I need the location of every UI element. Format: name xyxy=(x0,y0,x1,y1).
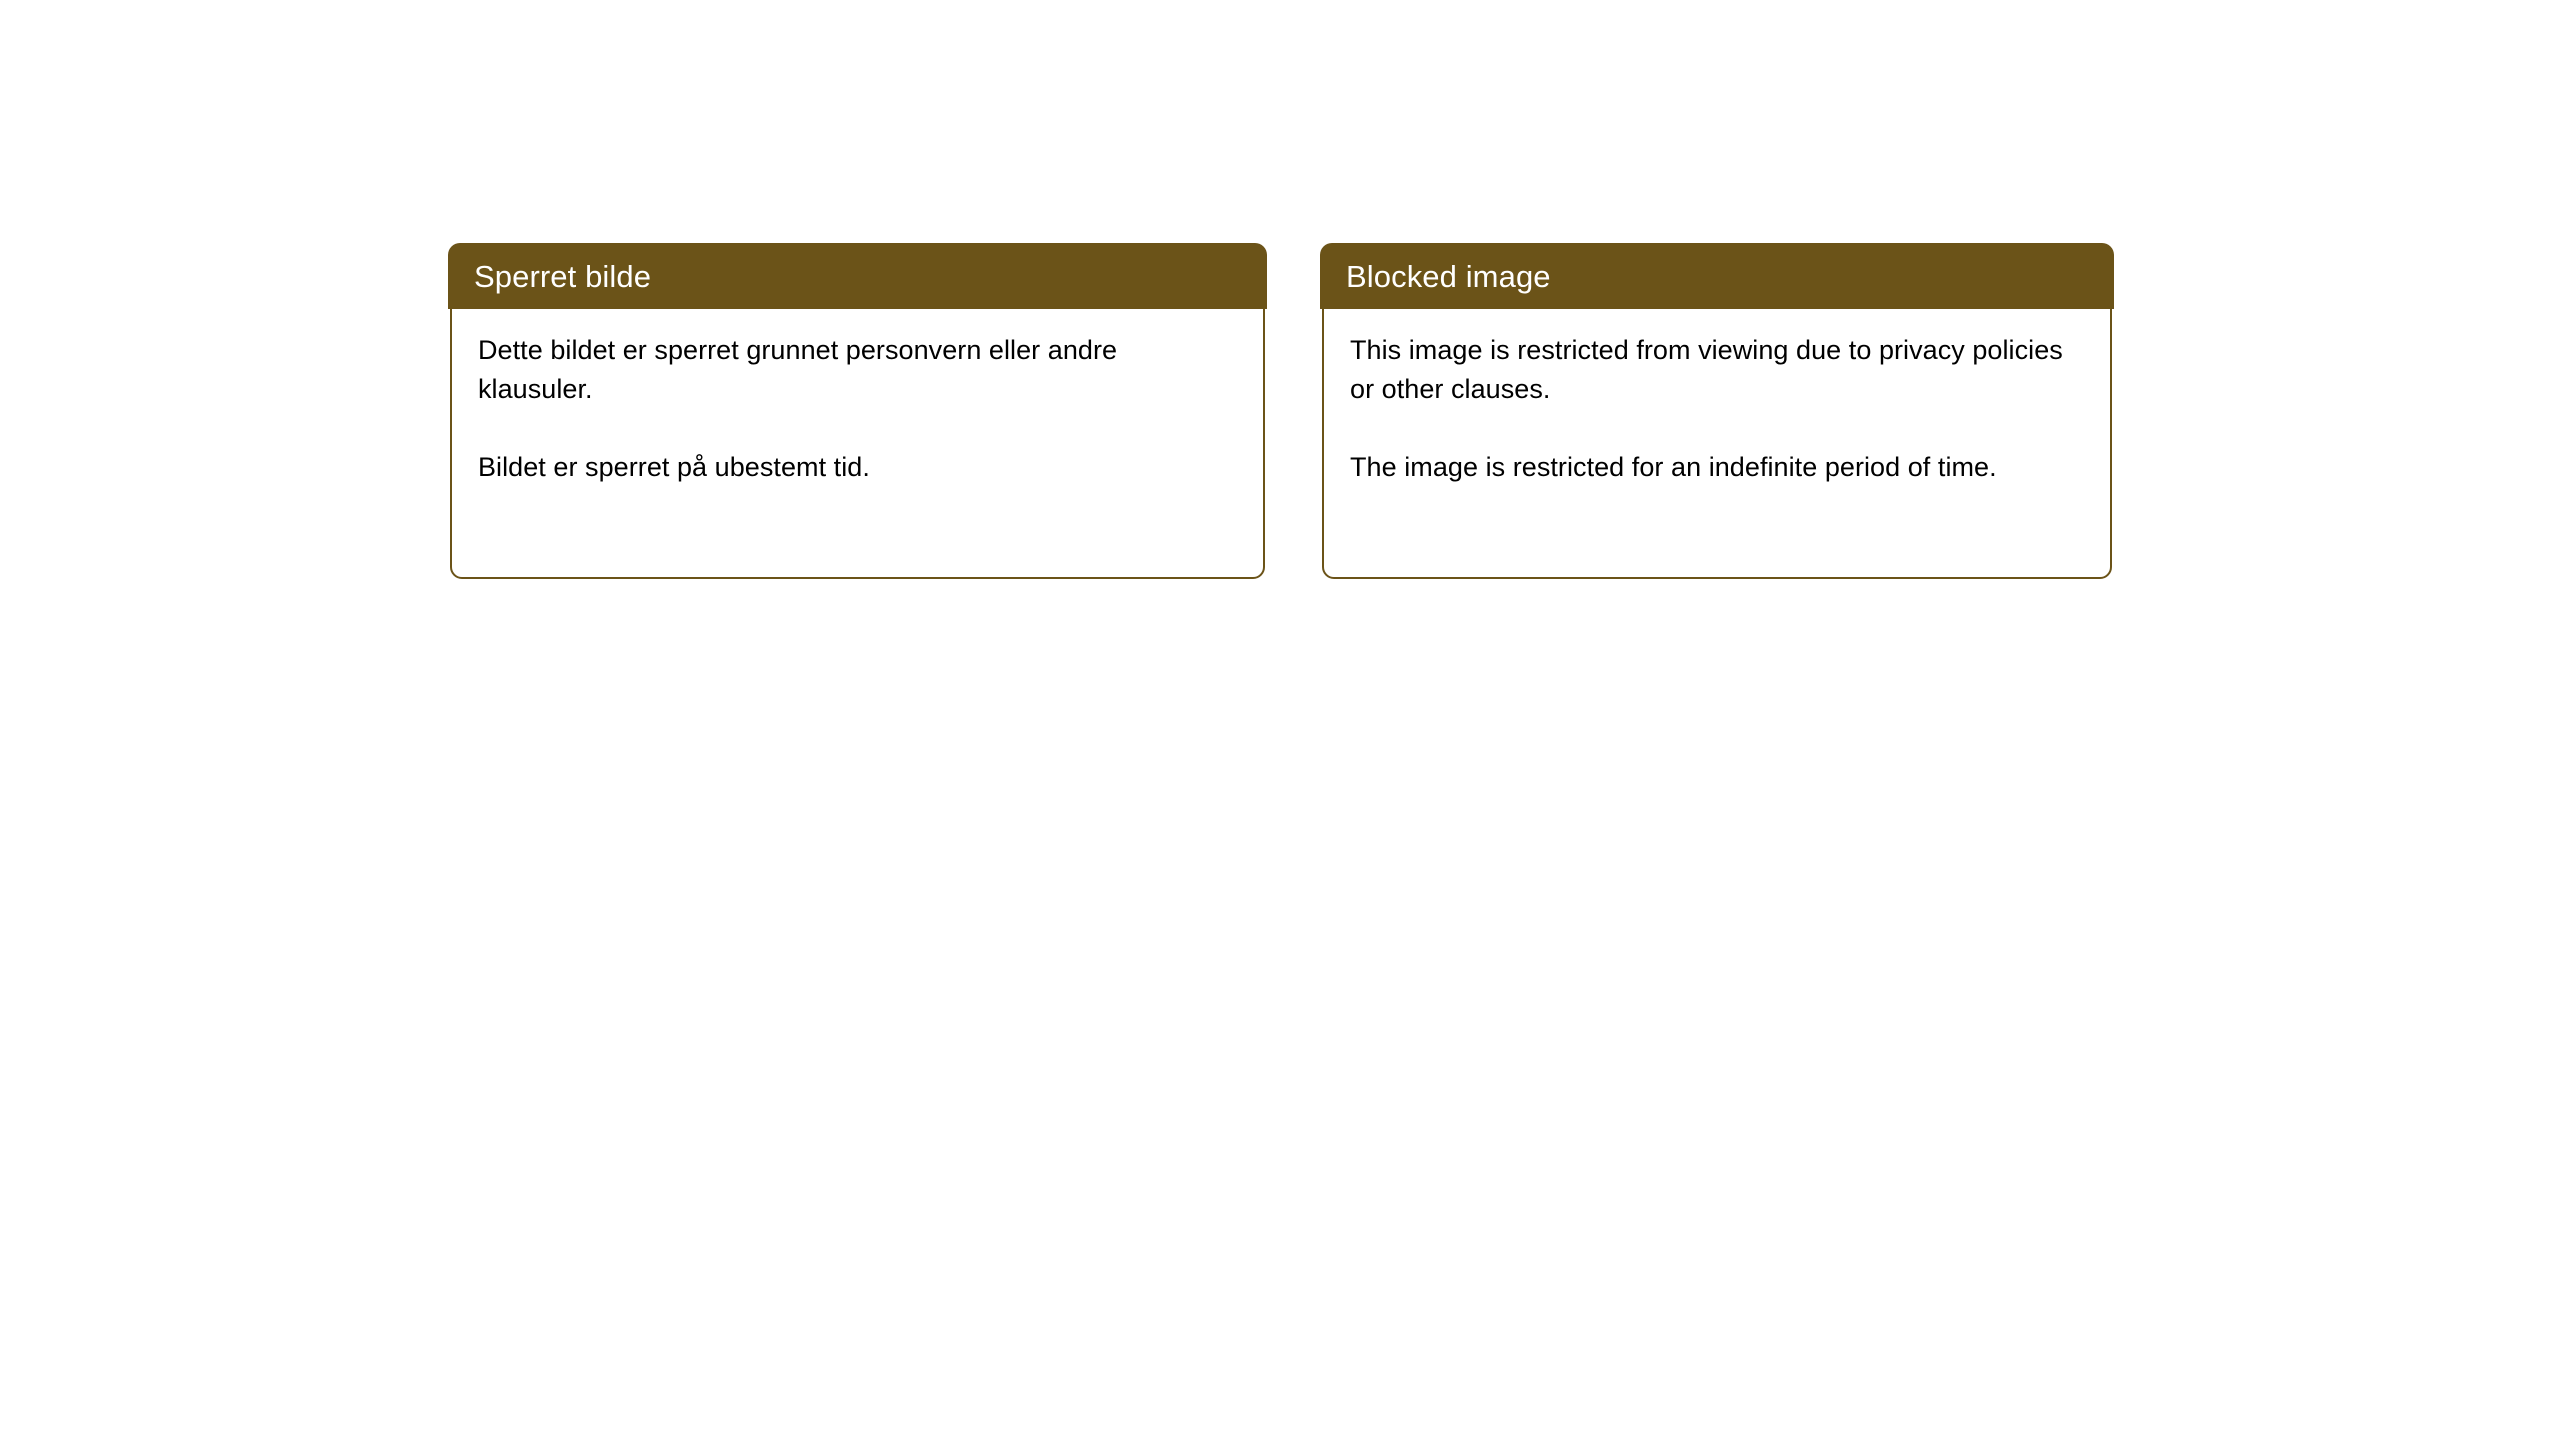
card-paragraph-reason-norwegian: Dette bildet er sperret grunnet personve… xyxy=(478,331,1237,409)
card-body-english: This image is restricted from viewing du… xyxy=(1324,309,2110,577)
card-paragraph-duration-english: The image is restricted for an indefinit… xyxy=(1350,448,2084,487)
card-paragraph-reason-english: This image is restricted from viewing du… xyxy=(1350,331,2084,409)
card-body-norwegian: Dette bildet er sperret grunnet personve… xyxy=(452,309,1263,577)
page-canvas: Sperret bilde Dette bildet er sperret gr… xyxy=(0,0,2560,1440)
card-header-english: Blocked image xyxy=(1320,243,2114,309)
card-header-norwegian: Sperret bilde xyxy=(448,243,1267,309)
card-paragraph-duration-norwegian: Bildet er sperret på ubestemt tid. xyxy=(478,448,1237,487)
blocked-image-notice-card-english: Blocked image This image is restricted f… xyxy=(1322,245,2112,579)
blocked-image-notice-card-norwegian: Sperret bilde Dette bildet er sperret gr… xyxy=(450,245,1265,579)
card-title-english: Blocked image xyxy=(1346,261,1551,292)
card-title-norwegian: Sperret bilde xyxy=(474,261,651,292)
